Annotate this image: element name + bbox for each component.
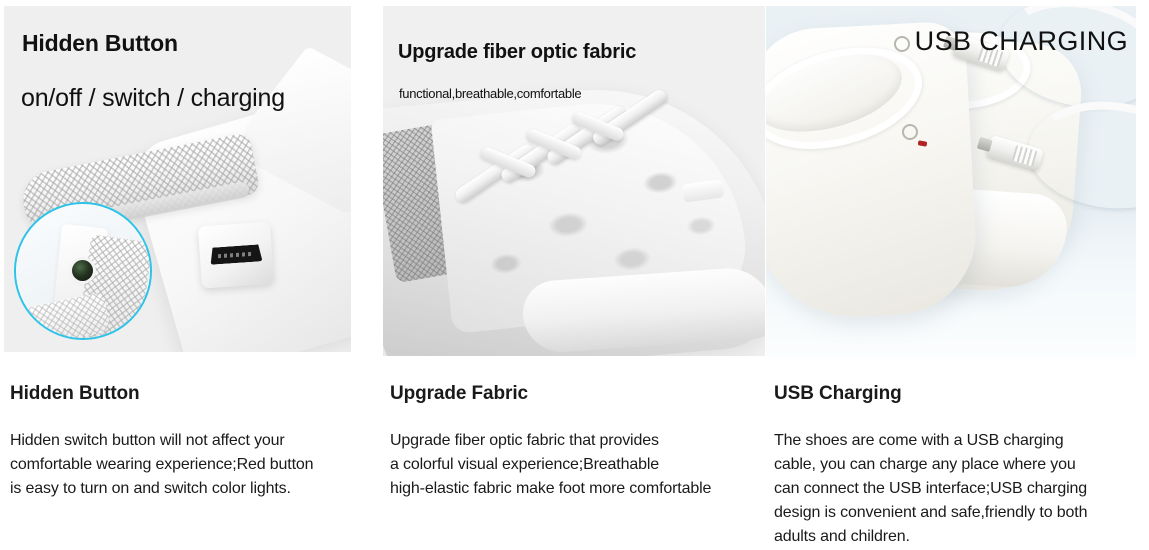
caption-line: can connect the USB interface;USB chargi… (774, 477, 1140, 501)
caption-line: Hidden switch button will not affect you… (10, 429, 370, 453)
hidden-power-button-icon (72, 260, 93, 281)
caption-line: cable, you can charge any place where yo… (774, 453, 1140, 477)
magnifier-circle-inset (14, 202, 152, 340)
caption-title: Upgrade Fabric (390, 383, 762, 405)
caption-hidden-button: Hidden Button Hidden switch button will … (10, 383, 370, 501)
usb-plug-grip (1012, 145, 1038, 166)
caption-line: design is convenient and safe,friendly t… (774, 501, 1140, 525)
caption-line: high-elastic fabric make foot more comfo… (390, 477, 762, 501)
shoe-front-shape (766, 20, 979, 321)
product-panel-upgrade-fabric[interactable]: Upgrade fiber optic fabric functional,br… (383, 6, 765, 356)
caption-line: is easy to turn on and switch color ligh… (10, 477, 370, 501)
caption-body: Upgrade fiber optic fabric that provides… (390, 429, 762, 501)
caption-body: Hidden switch button will not affect you… (10, 429, 370, 501)
caption-line: comfortable wearing experience;Red butto… (10, 453, 370, 477)
caption-line: adults and children. (774, 525, 1140, 549)
caption-upgrade-fabric: Upgrade Fabric Upgrade fiber optic fabri… (390, 383, 762, 501)
caption-title: Hidden Button (10, 383, 370, 405)
feature-panels-board: Hidden Button on/off / switch / charging… (0, 0, 1149, 550)
product-image-row: Hidden Button on/off / switch / charging… (0, 6, 1149, 358)
product-panel-hidden-button[interactable]: Hidden Button on/off / switch / charging (4, 6, 351, 352)
lace-hook-icon (902, 124, 918, 140)
panel-1-overlay-title: Hidden Button (22, 30, 178, 57)
caption-usb-charging: USB Charging The shoes are come with a U… (774, 383, 1140, 549)
usb-charging-photo (766, 6, 1136, 358)
panel-2-overlay-subtitle: functional,breathable,comfortable (399, 86, 581, 101)
inset-weave-texture-secondary (21, 292, 111, 340)
shoe-collar-rim (766, 30, 933, 166)
hidden-button-photo (4, 6, 351, 352)
caption-body: The shoes are come with a USB charging c… (774, 429, 1140, 549)
product-panel-usb-charging[interactable]: USB CHARGING (766, 6, 1136, 358)
micro-usb-port (198, 222, 274, 289)
panel-2-overlay-title: Upgrade fiber optic fabric (398, 41, 636, 64)
caption-line: The shoes are come with a USB charging (774, 429, 1140, 453)
caption-title: USB Charging (774, 383, 1140, 405)
caption-line: Upgrade fiber optic fabric that provides (390, 429, 762, 453)
panel-3-overlay-title: USB CHARGING (915, 26, 1128, 57)
panel-1-overlay-subtitle: on/off / switch / charging (21, 84, 285, 113)
lace-hook-icon (894, 36, 910, 52)
caption-line: a colorful visual experience;Breathable (390, 453, 762, 477)
